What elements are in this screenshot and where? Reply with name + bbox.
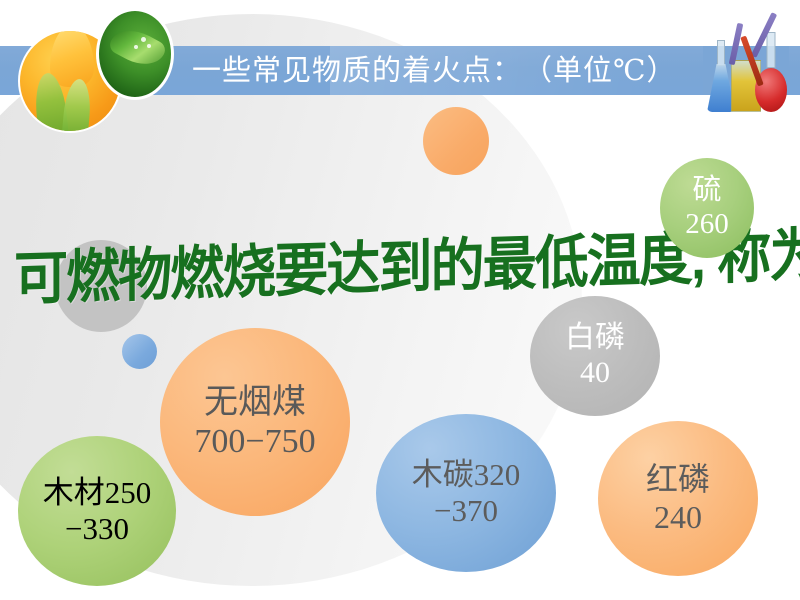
page-title: 一些常见物质的着火点： （单位℃）	[192, 50, 712, 92]
bubble-wood-label: 木材250	[43, 475, 152, 511]
bubble-anthracite: 无烟煤 700−750	[160, 328, 350, 516]
slide-canvas: 一些常见物质的着火点： （单位℃） 可燃物燃烧要达到的最低	[0, 0, 800, 600]
bubble-charcoal-value: −370	[434, 493, 498, 529]
bubble-red-phosphorus-label: 红磷	[646, 461, 710, 498]
leaf-photo-icon	[96, 8, 174, 100]
leaf-dew-drop-icon	[147, 44, 151, 48]
bubble-white-phosphorus-label: 白磷	[565, 321, 625, 356]
bubble-sulfur-label: 硫	[692, 174, 721, 208]
lab-glassware-icon	[703, 5, 789, 118]
flower-petal-shape	[50, 29, 94, 87]
bubble-sulfur: 硫 260	[660, 158, 754, 258]
bubble-wood-value: −330	[65, 511, 129, 547]
bubble-wood: 木材250 −330	[18, 436, 176, 586]
background-orange-dot-shape	[423, 107, 489, 175]
bubble-anthracite-value: 700−750	[194, 422, 315, 461]
bubble-anthracite-label: 无烟煤	[204, 383, 306, 422]
bubble-red-phosphorus-value: 240	[654, 499, 702, 536]
bubble-white-phosphorus: 白磷 40	[530, 296, 660, 416]
bubble-charcoal-label: 木碳320	[412, 457, 521, 493]
bubble-sulfur-value: 260	[685, 208, 729, 242]
bubble-white-phosphorus-value: 40	[580, 356, 610, 391]
leaf-dew-drop-icon	[141, 37, 146, 42]
background-blue-dot-shape	[122, 334, 157, 369]
bubble-red-phosphorus: 红磷 240	[598, 421, 758, 576]
bubble-charcoal: 木碳320 −370	[376, 414, 556, 572]
